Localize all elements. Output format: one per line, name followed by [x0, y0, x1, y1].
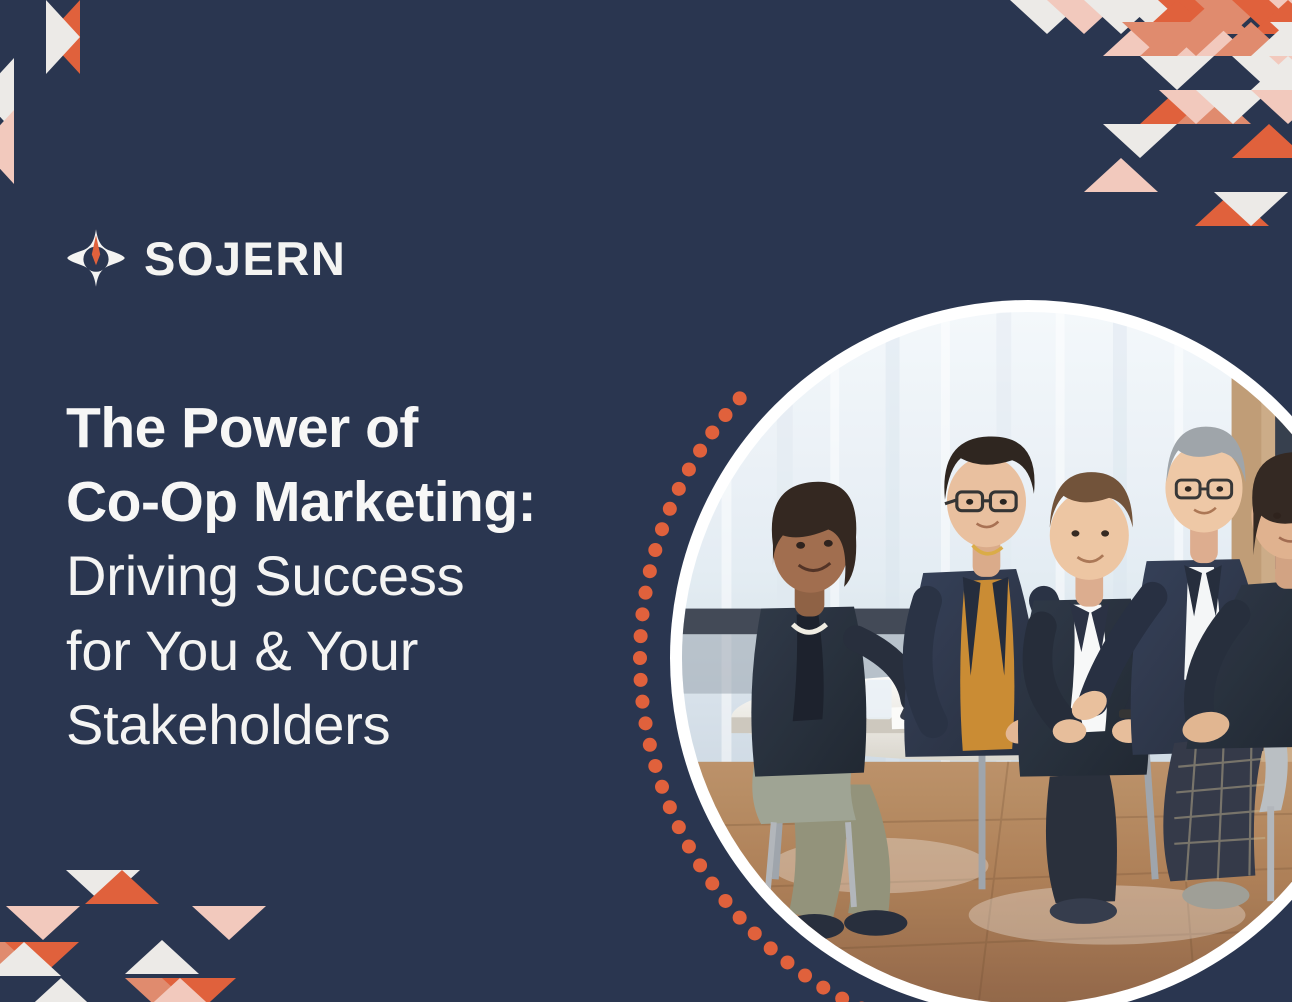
sojern-logo[interactable]: SOJERN [66, 228, 346, 288]
decor-triangle [125, 940, 199, 974]
decor-triangle [1269, 0, 1292, 34]
decor-triangle [1177, 22, 1251, 56]
top-left-triangle-cluster [0, 0, 80, 184]
decor-triangle [1140, 0, 1214, 34]
decor-triangle [125, 978, 199, 1002]
decor-triangle [1122, 22, 1196, 56]
decor-triangle [1140, 56, 1214, 90]
decor-triangle [0, 110, 14, 184]
decor-triangle [1084, 158, 1158, 192]
decor-triangle [1158, 0, 1232, 34]
decor-triangle [192, 906, 266, 940]
sojern-compass-logo [66, 228, 126, 288]
decor-triangle [1214, 22, 1288, 56]
sojern-wordmark: SOJERN [144, 235, 346, 282]
decor-triangle [1159, 90, 1233, 124]
arc-dot [648, 759, 662, 773]
title-line-2: Co-Op Marketing: [66, 466, 646, 540]
decor-triangle [0, 58, 14, 132]
decor-triangle [1103, 22, 1177, 56]
decor-triangle [1196, 90, 1270, 124]
decor-triangle [1232, 0, 1292, 34]
decor-triangle [1232, 56, 1292, 90]
decor-triangle [1214, 192, 1288, 226]
decor-triangle [1177, 0, 1251, 34]
decor-triangle [1270, 22, 1292, 56]
decor-triangle [1251, 0, 1292, 34]
decor-triangle [1177, 90, 1251, 124]
decor-triangle [46, 0, 80, 74]
business-team-meeting-photo [682, 312, 1292, 1002]
arc-dot [663, 800, 677, 814]
decor-triangle [1010, 0, 1084, 34]
decor-triangle [24, 978, 98, 1002]
decor-triangle [1047, 0, 1121, 34]
arc-dot [663, 502, 677, 516]
top-right-triangle-cluster [1010, 0, 1292, 226]
decor-triangle [143, 978, 217, 1002]
decor-triangle [1195, 192, 1269, 226]
decor-triangle [1251, 22, 1292, 56]
decor-triangle [1269, 56, 1292, 90]
decor-triangle [1251, 90, 1292, 124]
decor-triangle [1159, 22, 1233, 56]
subtitle-line-3: Stakeholders [66, 688, 646, 762]
decor-triangle [1232, 124, 1292, 158]
decor-triangle [46, 0, 80, 74]
cover-page: SOJERN The Power of Co-Op Marketing: Dri… [0, 0, 1292, 1002]
arc-dot [655, 522, 669, 536]
headline-block: The Power of Co-Op Marketing: Driving Su… [66, 392, 646, 762]
decor-triangle [1121, 0, 1195, 34]
decor-triangle [1084, 0, 1158, 34]
subtitle-line-2: for You & Your [66, 614, 646, 688]
bottom-left-triangle-cluster [0, 870, 266, 1002]
decor-triangle [1103, 124, 1177, 158]
decor-triangle [6, 906, 80, 940]
title-line-1: The Power of [66, 392, 646, 466]
photo-illustration [682, 312, 1292, 1002]
decor-triangle [162, 978, 236, 1002]
decor-triangle [1140, 90, 1214, 124]
decor-triangle [0, 942, 61, 976]
subtitle-line-1: Driving Success [66, 539, 646, 613]
arc-dot [655, 780, 669, 794]
decor-triangle [1140, 22, 1214, 56]
decor-triangle [66, 870, 140, 904]
decor-triangle [5, 942, 79, 976]
decor-triangle [1251, 56, 1292, 90]
arc-dot [648, 543, 662, 557]
decor-triangle [0, 942, 42, 976]
decor-triangle [85, 870, 159, 904]
decor-triangle [1195, 0, 1269, 34]
